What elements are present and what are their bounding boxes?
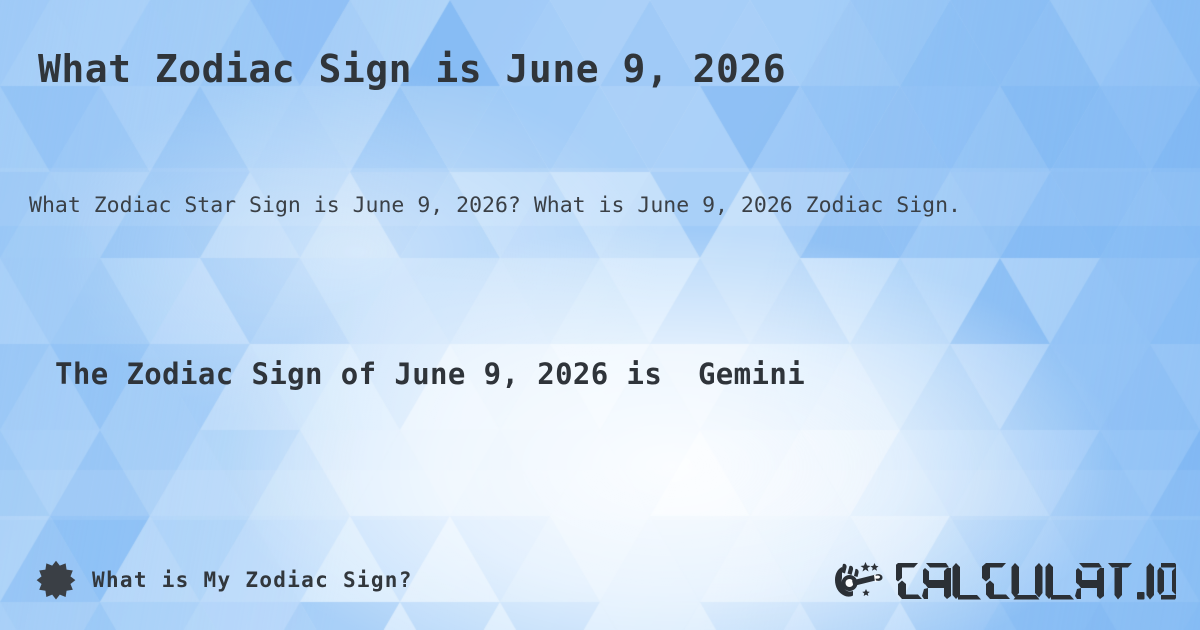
brand-wordmark <box>896 558 1176 602</box>
zodiac-answer: The Zodiac Sign of June 9, 2026 is Gemin… <box>55 357 805 391</box>
brand-logo-link[interactable] <box>833 545 1176 615</box>
what-is-my-zodiac-sign-link[interactable]: What is My Zodiac Sign? <box>36 545 413 615</box>
page-subtitle: What Zodiac Star Sign is June 9, 2026? W… <box>29 188 1169 223</box>
footer-link-label: What is My Zodiac Sign? <box>92 568 413 592</box>
page-title: What Zodiac Sign is June 9, 2026 <box>38 47 786 91</box>
magic-wand-icon <box>833 558 889 602</box>
calculatio-lcd-wordmark <box>896 558 1176 602</box>
footer: What is My Zodiac Sign? <box>0 545 1200 615</box>
starburst-icon <box>36 560 76 600</box>
page-root: What Zodiac Sign is June 9, 2026 What Zo… <box>0 0 1200 630</box>
